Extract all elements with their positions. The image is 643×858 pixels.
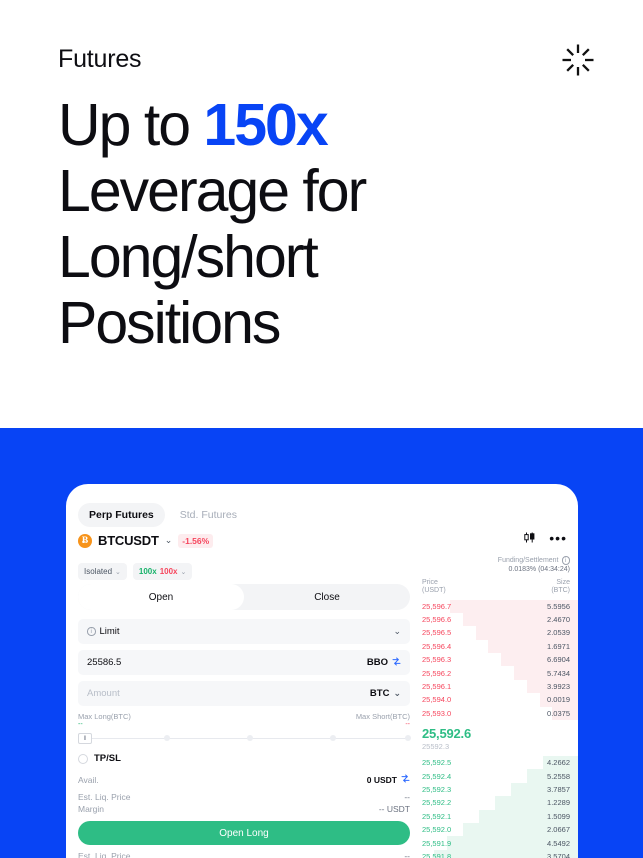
order-book-price: 25,596.7 [422,602,451,611]
info-icon: i [87,627,96,636]
swap-arrows-icon [392,657,401,669]
order-book-row[interactable]: 25,596.75.5956 [418,600,578,613]
est-liq-price-label: Est. Liq. Price [78,792,130,802]
order-book-price: 25,591.9 [422,839,451,848]
max-short-label: Max Short(BTC) [356,712,410,721]
chevron-down-icon: ⌄ [393,627,401,636]
margin-value: -- USDT [379,804,410,814]
leverage-long-value: 100x [139,567,157,576]
open-long-button[interactable]: Open Long [78,821,410,845]
order-book-header: Price (USDT) Size (BTC) [418,579,578,596]
order-book-price: 25,592.1 [422,812,451,821]
amount-input[interactable]: Amount [87,688,120,699]
futures-tab-bar: Perp Futures Std. Futures [78,503,248,527]
max-long-value: -- [78,721,131,728]
tab-std-futures[interactable]: Std. Futures [169,503,248,527]
symbol-selector[interactable]: Ƀ BTCUSDT ⌄ -1.56% [78,533,213,548]
price-input-value[interactable]: 25586.5 [87,657,121,668]
slider-stop-100[interactable] [405,735,411,741]
order-book-row[interactable]: 25,596.13.9923 [418,680,578,693]
order-book-row[interactable]: 25,593.00.0375 [418,707,578,720]
order-book-price-header: Price (USDT) [422,579,446,596]
margin-row: Margin -- USDT [78,804,410,814]
hero-section: Futures Up to 150x Leverage for Long/sho… [0,0,643,428]
order-book-size: 4.5492 [547,839,570,848]
order-book-row[interactable]: 25,596.62.4670 [418,613,578,626]
funding-label-group: Funding/Settlement i [418,556,570,565]
est-liq-price-footer-label: Est. Liq. Price [78,851,130,858]
info-icon[interactable]: i [562,556,571,565]
sparkle-burst-icon [559,41,597,79]
est-liq-price-row: Est. Liq. Price -- [78,792,410,802]
max-short-group: Max Short(BTC) -- [356,712,410,728]
order-book-size: 2.0667 [547,825,570,834]
order-type-select[interactable]: i Limit ⌄ [78,619,410,644]
order-book-price-header-unit: (USDT) [422,587,446,596]
order-book-size: 6.6904 [547,655,570,664]
bitcoin-icon: Ƀ [78,534,92,548]
order-book-price: 25,593.0 [422,709,451,718]
bbo-toggle[interactable]: BBO [367,657,401,669]
chevron-down-icon: ⌄ [115,568,121,576]
order-book-row[interactable]: 25,594.00.0019 [418,693,578,706]
amount-unit-label: BTC [370,688,390,699]
avail-label: Avail. [78,775,99,785]
chip-leverage[interactable]: 100x 100x ⌄ [133,563,192,580]
order-book: Funding/Settlement i 0.0183% (04:34:24) … [418,556,578,858]
order-book-price: 25,596.1 [422,682,451,691]
est-liq-price-value: -- [404,792,410,802]
max-long-label: Max Long(BTC) [78,712,131,721]
order-book-size-header-unit: (BTC) [551,587,570,596]
max-short-value: -- [405,721,410,728]
page-eyebrow: Futures [58,45,141,74]
open-close-toggle: Open Close [78,584,410,610]
order-book-row[interactable]: 25,592.33.7857 [418,783,578,796]
avail-row: Avail. 0 USDT [78,774,410,785]
order-book-row[interactable]: 25,591.83.5704 [418,850,578,858]
segment-open[interactable]: Open [78,584,244,610]
header-icon-group: ••• [523,531,567,544]
order-book-price: 25,592.0 [422,825,451,834]
headline-accent: 150x [203,92,326,158]
more-options-icon[interactable]: ••• [549,534,567,542]
amount-input-row[interactable]: Amount BTC ⌄ [78,681,410,706]
order-book-price: 25,596.6 [422,615,451,624]
candlestick-chart-icon[interactable] [523,531,536,544]
tpsl-radio[interactable] [78,754,88,764]
headline-part-1: Up to [58,92,203,158]
mid-price-value: 25,592.6 [422,726,574,741]
order-book-price: 25,592.4 [422,772,451,781]
order-book-size: 3.7857 [547,785,570,794]
est-liq-price-footer-row: Est. Liq. Price -- [78,851,410,858]
order-book-size: 4.2662 [547,758,570,767]
order-book-size: 0.0019 [547,695,570,704]
chevron-down-icon: ⌄ [181,568,187,576]
order-book-asks: 25,596.75.595625,596.62.467025,596.52.05… [418,600,578,721]
order-book-row[interactable]: 25,592.21.2289 [418,796,578,809]
slider-stop-25[interactable] [164,735,170,741]
price-input-row[interactable]: 25586.5 BBO [78,650,410,675]
order-book-price: 25,594.0 [422,695,451,704]
order-book-row[interactable]: 25,596.52.0539 [418,626,578,639]
page-title: Up to 150x Leverage for Long/short Posit… [58,92,538,356]
margin-label: Margin [78,804,104,814]
order-type-label-group: i Limit [87,626,120,637]
est-liq-price-footer-value: -- [404,851,410,858]
order-book-price: 25,596.2 [422,669,451,678]
order-book-size-header: Size (BTC) [551,579,570,596]
slider-stop-75[interactable] [330,735,336,741]
size-slider[interactable]: ‖ [78,731,410,747]
order-book-price: 25,592.2 [422,798,451,807]
order-book-mid-price: 25,592.6 25592.3 [418,720,578,756]
order-type-value: Limit [100,626,120,637]
max-long-group: Max Long(BTC) -- [78,712,131,728]
order-book-price: 25,592.5 [422,758,451,767]
price-change-badge: -1.56% [178,534,213,548]
page-root: Futures Up to 150x Leverage for Long/sho… [0,0,643,858]
leverage-short-value: 100x [160,567,178,576]
order-book-size: 5.5956 [547,602,570,611]
funding-label: Funding/Settlement [498,557,559,564]
order-form: Open Close i Limit ⌄ 25586.5 BBO [78,584,410,858]
chevron-down-icon: ⌄ [393,689,401,698]
order-book-price: 25,591.8 [422,852,451,858]
order-book-bids: 25,592.54.266225,592.45.255825,592.33.78… [418,756,578,858]
order-book-size: 2.4670 [547,615,570,624]
order-book-row[interactable]: 25,591.94.5492 [418,836,578,849]
chevron-down-icon[interactable]: ⌄ [165,536,173,545]
amount-unit-select[interactable]: BTC ⌄ [370,688,401,699]
margin-mode-chips: Isolated ⌄ 100x 100x ⌄ [78,563,192,580]
order-book-size: 2.0539 [547,628,570,637]
symbol-name: BTCUSDT [98,533,159,548]
order-book-price-header-text: Price [422,579,446,588]
order-book-price: 25,596.3 [422,655,451,664]
order-book-size: 1.5099 [547,812,570,821]
mid-price-secondary: 25592.3 [422,742,574,751]
tab-perp-futures[interactable]: Perp Futures [78,503,165,527]
order-book-size: 3.5704 [547,852,570,858]
order-book-size: 1.6971 [547,642,570,651]
order-book-price: 25,596.4 [422,642,451,651]
segment-close[interactable]: Close [244,584,410,610]
order-book-price: 25,596.5 [422,628,451,637]
avail-value-group: 0 USDT [367,774,410,785]
slider-handle[interactable]: ‖ [78,733,92,744]
bbo-label: BBO [367,657,388,668]
order-book-row[interactable]: 25,592.02.0667 [418,823,578,836]
funding-settlement-block: Funding/Settlement i 0.0183% (04:34:24) [418,556,578,573]
order-book-size: 0.0375 [547,709,570,718]
max-size-row: Max Long(BTC) -- Max Short(BTC) -- [78,712,410,728]
order-book-size: 5.7434 [547,669,570,678]
order-book-row[interactable]: 25,592.54.2662 [418,756,578,769]
order-book-size: 3.9923 [547,682,570,691]
order-book-price: 25,592.3 [422,785,451,794]
slider-stop-50[interactable] [247,735,253,741]
headline-part-2: Leverage for Long/short Positions [58,158,365,356]
order-book-row[interactable]: 25,596.36.6904 [418,653,578,666]
order-book-size: 1.2289 [547,798,570,807]
order-book-size-header-text: Size [551,579,570,588]
swap-arrows-icon[interactable] [401,774,410,785]
app-screenshot-card: Perp Futures Std. Futures Ƀ BTCUSDT ⌄ -1… [66,484,578,858]
avail-value: 0 USDT [367,775,397,785]
funding-value: 0.0183% (04:34:24) [418,566,570,573]
tpsl-toggle[interactable]: TP/SL [78,753,410,764]
chip-margin-mode[interactable]: Isolated ⌄ [78,563,127,580]
tpsl-label: TP/SL [94,753,121,764]
order-book-row[interactable]: 25,592.11.5099 [418,810,578,823]
order-book-row[interactable]: 25,596.25.7434 [418,666,578,679]
order-book-row[interactable]: 25,596.41.6971 [418,640,578,653]
margin-mode-label: Isolated [84,567,112,576]
order-book-row[interactable]: 25,592.45.2558 [418,769,578,782]
order-book-size: 5.2558 [547,772,570,781]
